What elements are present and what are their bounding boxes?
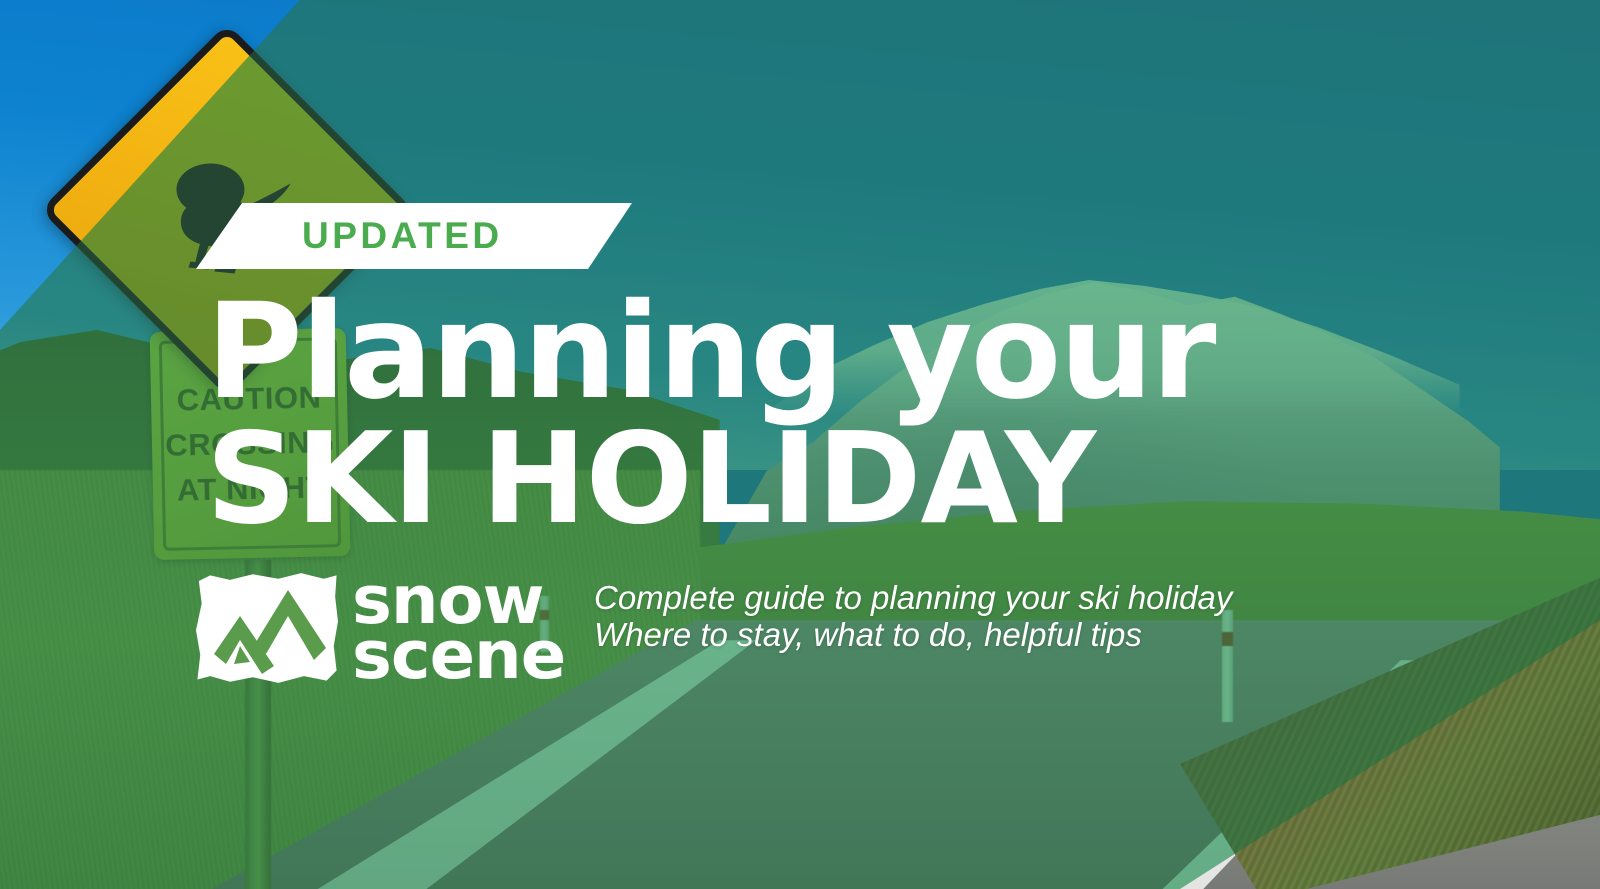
banner-content: UPDATED Planning your SKI HOLIDAY snow s… — [0, 0, 1600, 889]
updated-badge: UPDATED — [196, 203, 632, 269]
subtitle-line-2: Where to stay, what to do, helpful tips — [594, 617, 1232, 654]
mountain-chevrons-icon — [196, 572, 338, 684]
brand-wordmark: snow scene — [352, 573, 565, 683]
mountain-chevrons-svg — [196, 572, 338, 684]
page-title-line-1: Planning your — [206, 292, 1406, 413]
brand-logo[interactable]: snow scene — [196, 572, 565, 684]
subtitle: Complete guide to planning your ski holi… — [594, 580, 1232, 654]
subtitle-line-1: Complete guide to planning your ski holi… — [594, 580, 1232, 617]
page-title: Planning your SKI HOLIDAY — [206, 292, 1406, 537]
page-title-line-2: SKI HOLIDAY — [206, 421, 1406, 537]
hero-banner: CAUTION CROSSING AT NIGHT UPDATED P — [0, 0, 1600, 889]
updated-badge-label: UPDATED — [302, 215, 503, 257]
brand-word-line-2: scene — [352, 628, 565, 683]
